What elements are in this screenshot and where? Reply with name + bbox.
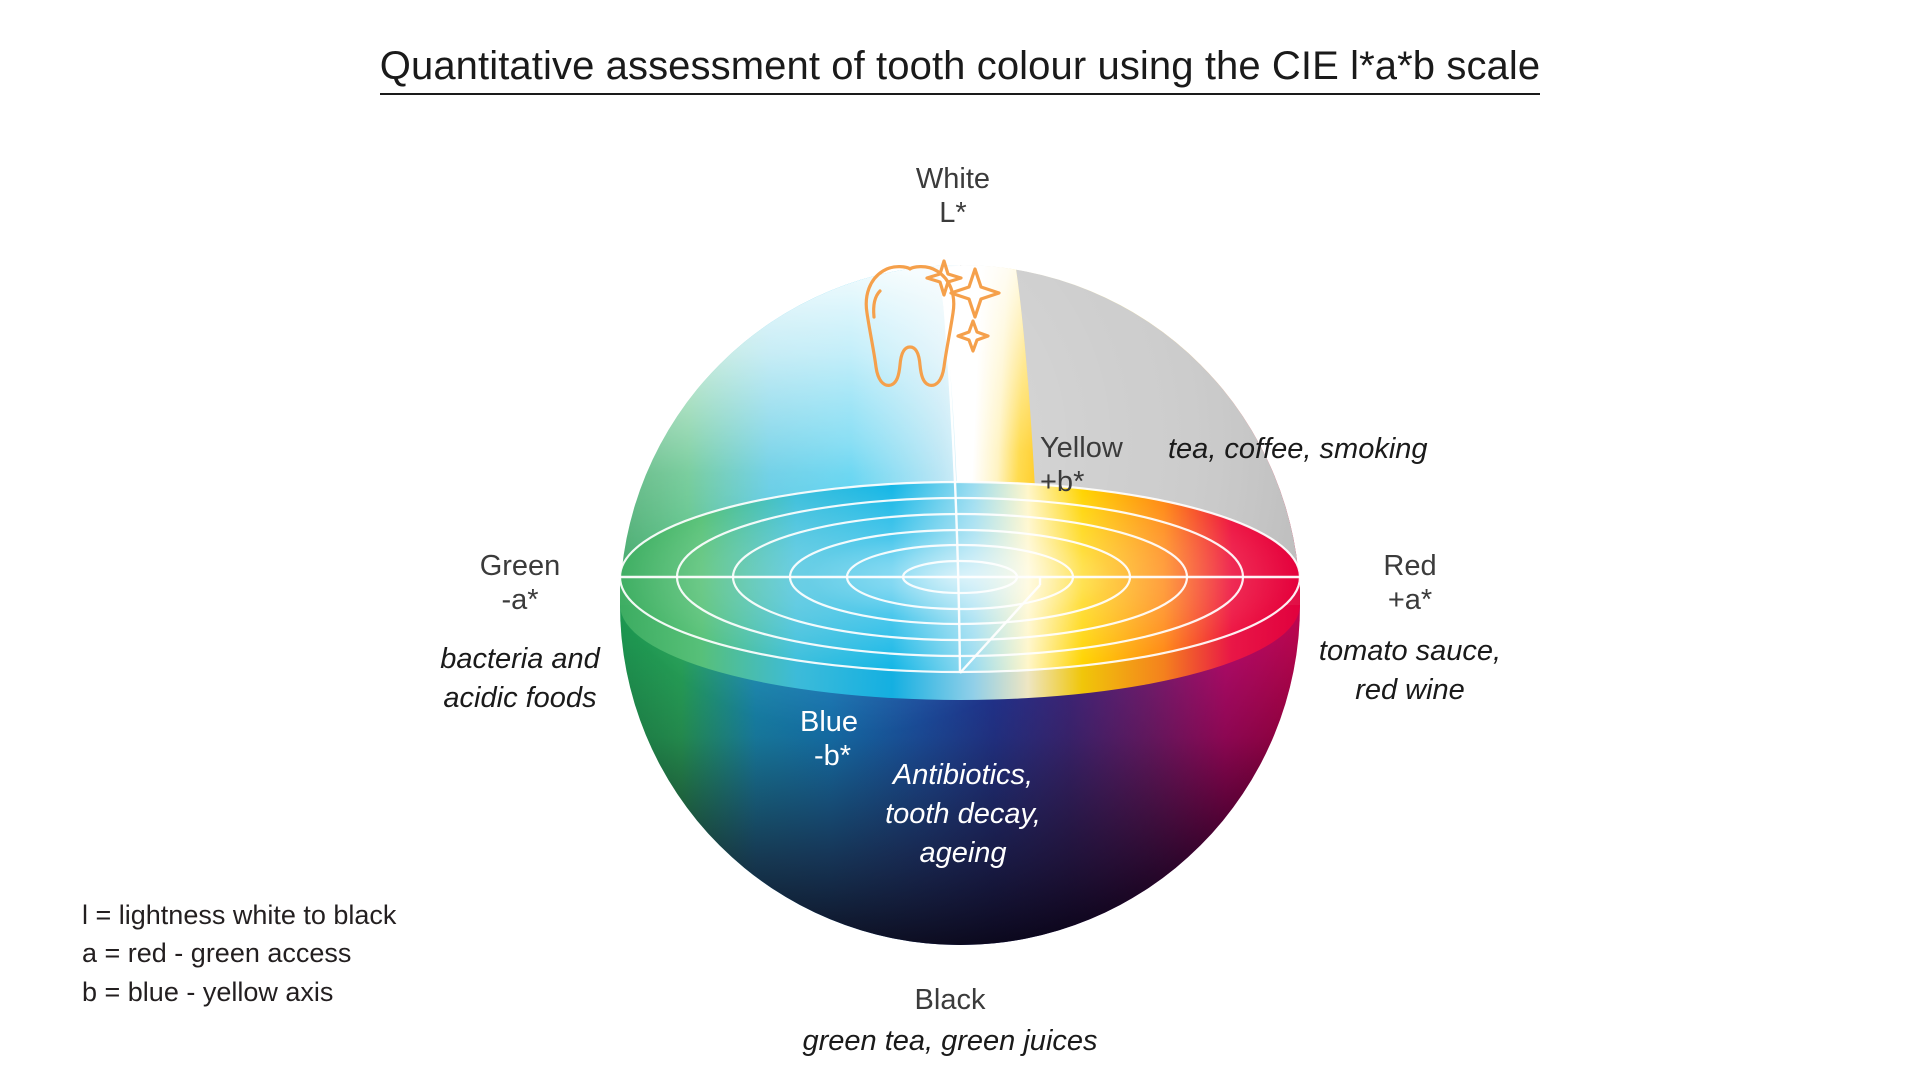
axis-label-white-symbol: L* — [888, 197, 1018, 231]
legend: l = lightness white to black a = red - g… — [82, 896, 396, 1011]
legend-line-b: b = blue - yellow axis — [82, 973, 396, 1011]
axis-label-blue: Blue -b* — [800, 706, 858, 773]
note-green-line1: bacteria and — [392, 640, 648, 679]
note-red-line1: tomato sauce, — [1300, 632, 1520, 671]
axis-label-red: Red +a* — [1350, 550, 1470, 617]
axis-label-green-name: Green — [480, 550, 561, 582]
note-green: bacteria and acidic foods — [392, 640, 648, 717]
note-yellow: tea, coffee, smoking — [1168, 430, 1428, 469]
axis-label-blue-symbol: -b* — [814, 740, 858, 774]
axis-label-yellow-name: Yellow — [1040, 432, 1123, 464]
legend-line-a: a = red - green access — [82, 934, 396, 972]
legend-line-l: l = lightness white to black — [82, 896, 396, 934]
axis-label-yellow: Yellow +b* — [1040, 432, 1123, 499]
note-blue-line3: ageing — [858, 834, 1068, 873]
axis-label-red-name: Red — [1383, 550, 1436, 582]
axis-label-yellow-symbol: +b* — [1040, 466, 1123, 500]
axis-label-black-name: Black — [915, 984, 986, 1016]
note-blue-line2: tooth decay, — [858, 795, 1068, 834]
page-title: Quantitative assessment of tooth colour … — [0, 44, 1920, 89]
note-blue-line1: Antibiotics, — [858, 756, 1068, 795]
note-red: tomato sauce, red wine — [1300, 632, 1520, 709]
note-blue: Antibiotics, tooth decay, ageing — [858, 756, 1068, 873]
axis-label-green: Green -a* — [455, 550, 585, 617]
note-black: green tea, green juices — [770, 1022, 1130, 1061]
page-title-text: Quantitative assessment of tooth colour … — [380, 44, 1540, 95]
axis-label-white-name: White — [916, 163, 990, 195]
axis-label-black: Black — [860, 984, 1040, 1018]
axis-label-red-symbol: +a* — [1350, 584, 1470, 618]
slide-canvas: Quantitative assessment of tooth colour … — [0, 0, 1920, 1080]
axis-label-green-symbol: -a* — [455, 584, 585, 618]
axis-label-white: White L* — [888, 163, 1018, 230]
note-green-line2: acidic foods — [392, 679, 648, 718]
axis-label-blue-name: Blue — [800, 706, 858, 738]
note-red-line2: red wine — [1300, 671, 1520, 710]
